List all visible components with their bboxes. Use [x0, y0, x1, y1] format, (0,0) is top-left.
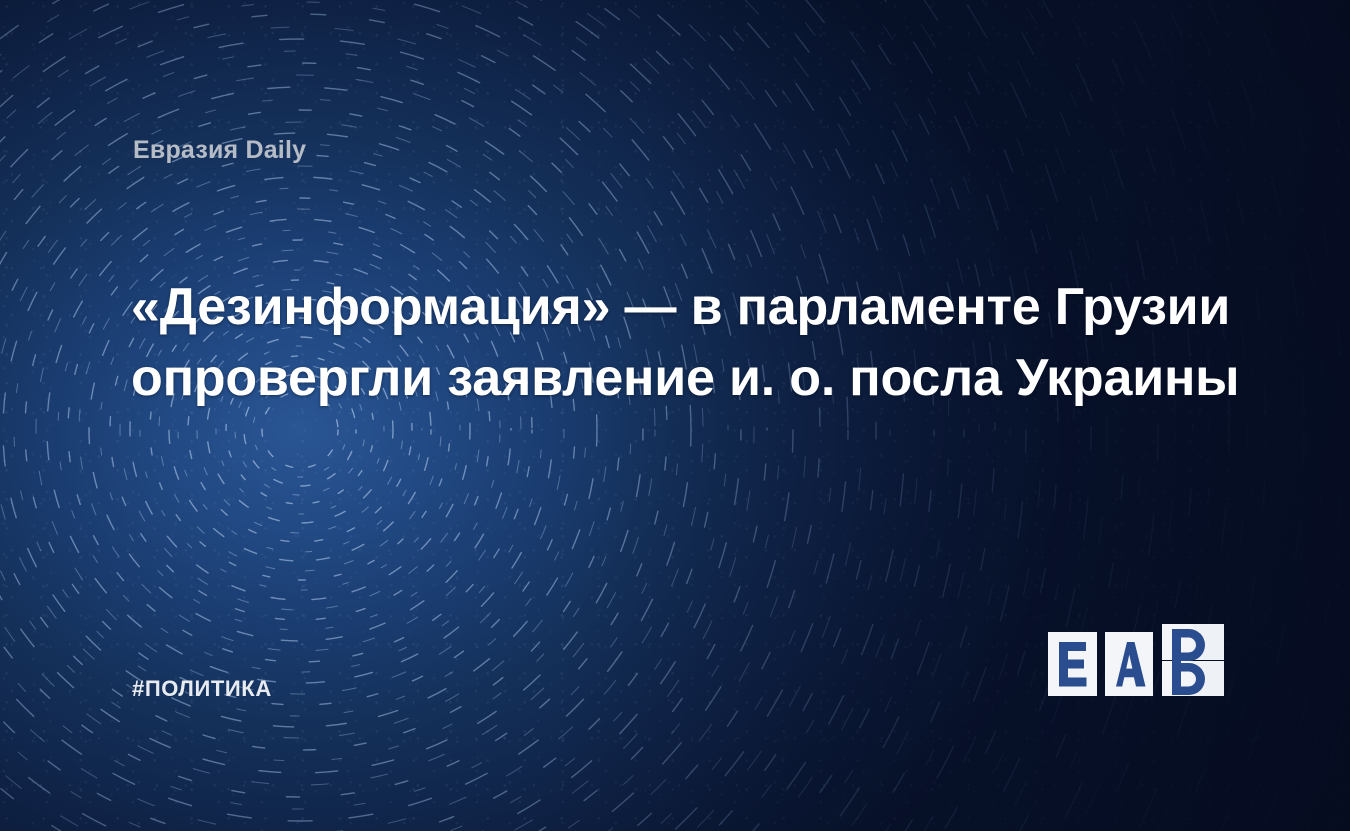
category-tag[interactable]: #ПОЛИТИКА	[132, 676, 272, 702]
eadaily-logo[interactable]	[1048, 624, 1224, 697]
card-content: Евразия Daily «Дезинформация» — в парлам…	[0, 0, 1350, 831]
brand-name: Евразия Daily	[133, 136, 306, 165]
page-title: «Дезинформация» — в парламенте Грузии оп…	[131, 272, 1251, 414]
news-share-card: Евразия Daily «Дезинформация» — в парлам…	[0, 0, 1350, 831]
